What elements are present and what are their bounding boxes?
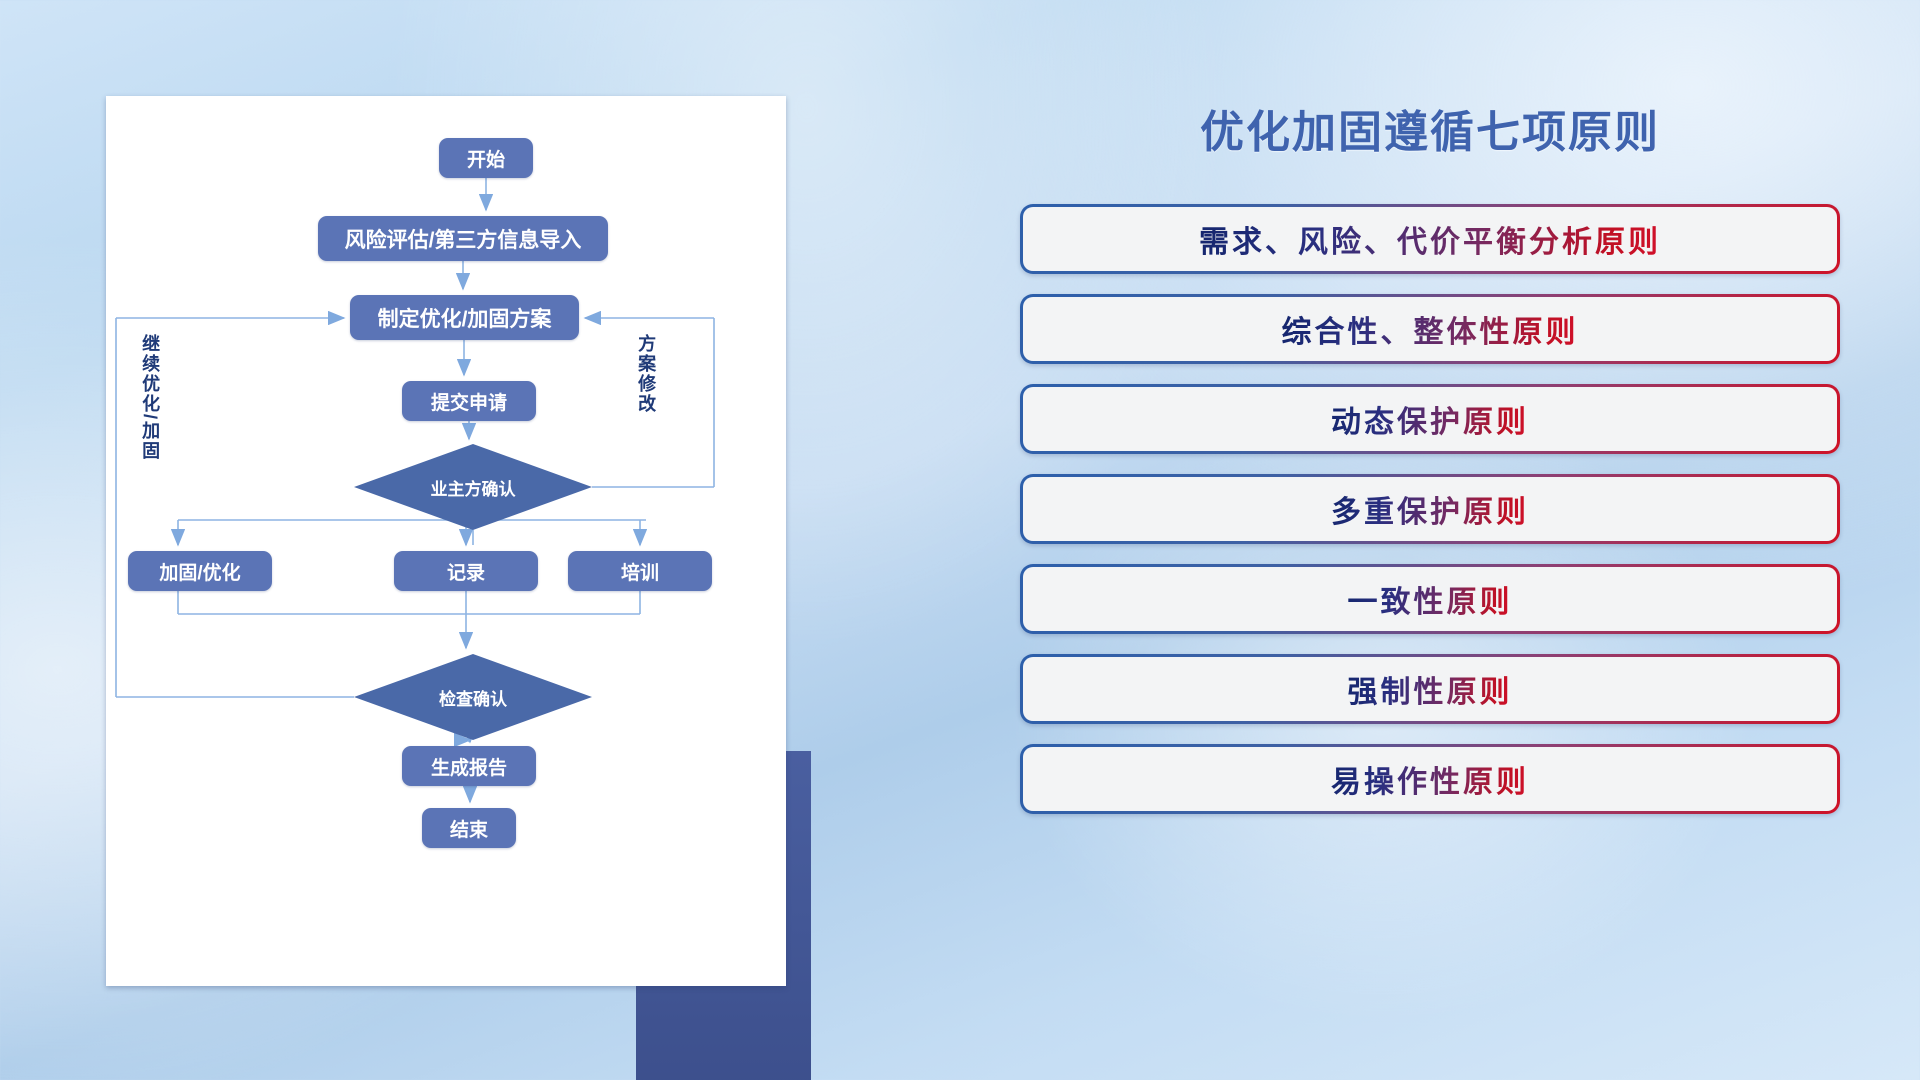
principle-label: 易操作性原则 (1331, 757, 1529, 801)
flow-node-owner[interactable]: 业主方确认 (354, 444, 592, 530)
flow-node-check[interactable]: 检查确认 (354, 654, 592, 740)
flow-node-plan[interactable]: 制定优化/加固方案 (350, 295, 579, 340)
principle-card[interactable]: 一致性原则 (1020, 564, 1840, 634)
principle-label: 动态保护原则 (1331, 397, 1529, 441)
flow-node-submit[interactable]: 提交申请 (402, 381, 536, 421)
principle-card-inner: 一致性原则 (1023, 567, 1837, 631)
flow-node-report[interactable]: 生成报告 (402, 746, 536, 786)
flow-node-label: 培训 (621, 558, 659, 585)
edge-label-plan-revision: 方案修改 (636, 334, 655, 414)
flow-node-risk[interactable]: 风险评估/第三方信息导入 (318, 216, 608, 261)
principle-card[interactable]: 综合性、整体性原则 (1020, 294, 1840, 364)
principle-card[interactable]: 易操作性原则 (1020, 744, 1840, 814)
principle-card[interactable]: 动态保护原则 (1020, 384, 1840, 454)
principle-card-inner: 需求、风险、代价平衡分析原则 (1023, 207, 1837, 271)
flowchart-canvas: 开始风险评估/第三方信息导入制定优化/加固方案提交申请 业主方确认加固/优化记录… (106, 96, 786, 986)
principle-card-inner: 易操作性原则 (1023, 747, 1837, 811)
flow-node-label: 制定优化/加固方案 (378, 303, 552, 333)
flow-node-end[interactable]: 结束 (422, 808, 516, 848)
flow-node-label: 检查确认 (354, 654, 592, 740)
flow-node-start[interactable]: 开始 (439, 138, 533, 178)
flow-node-label: 结束 (450, 815, 488, 842)
flow-node-label: 开始 (467, 145, 505, 172)
principle-label: 需求、风险、代价平衡分析原则 (1199, 217, 1661, 261)
flow-node-label: 记录 (447, 558, 485, 585)
principle-card-inner: 强制性原则 (1023, 657, 1837, 721)
flow-node-record[interactable]: 记录 (394, 551, 538, 591)
panel-title: 优化加固遵循七项原则 (1020, 96, 1840, 160)
flow-node-label: 业主方确认 (354, 444, 592, 530)
principle-card-inner: 动态保护原则 (1023, 387, 1837, 451)
flow-node-train[interactable]: 培训 (568, 551, 712, 591)
flow-node-label: 生成报告 (431, 753, 507, 780)
principle-card[interactable]: 需求、风险、代价平衡分析原则 (1020, 204, 1840, 274)
principle-label: 强制性原则 (1348, 667, 1513, 711)
flow-node-label: 提交申请 (431, 388, 507, 415)
principles-panel: 优化加固遵循七项原则 需求、风险、代价平衡分析原则综合性、整体性原则动态保护原则… (1020, 96, 1840, 834)
principle-label: 多重保护原则 (1331, 487, 1529, 531)
flow-node-label: 加固/优化 (159, 558, 240, 585)
principle-card-inner: 综合性、整体性原则 (1023, 297, 1837, 361)
flow-node-reinf[interactable]: 加固/优化 (128, 551, 272, 591)
principle-label: 一致性原则 (1348, 577, 1513, 621)
flowchart-card: 开始风险评估/第三方信息导入制定优化/加固方案提交申请 业主方确认加固/优化记录… (106, 96, 786, 986)
edge-label-continue-optimize: 继续优化/加固 (140, 334, 159, 461)
principle-label: 综合性、整体性原则 (1282, 307, 1579, 351)
flow-node-label: 风险评估/第三方信息导入 (345, 224, 582, 254)
flowchart-panel: 开始风险评估/第三方信息导入制定优化/加固方案提交申请 业主方确认加固/优化记录… (106, 96, 796, 996)
principle-card[interactable]: 多重保护原则 (1020, 474, 1840, 544)
principle-card-inner: 多重保护原则 (1023, 477, 1837, 541)
principle-card[interactable]: 强制性原则 (1020, 654, 1840, 724)
principle-card-list: 需求、风险、代价平衡分析原则综合性、整体性原则动态保护原则多重保护原则一致性原则… (1020, 204, 1840, 814)
